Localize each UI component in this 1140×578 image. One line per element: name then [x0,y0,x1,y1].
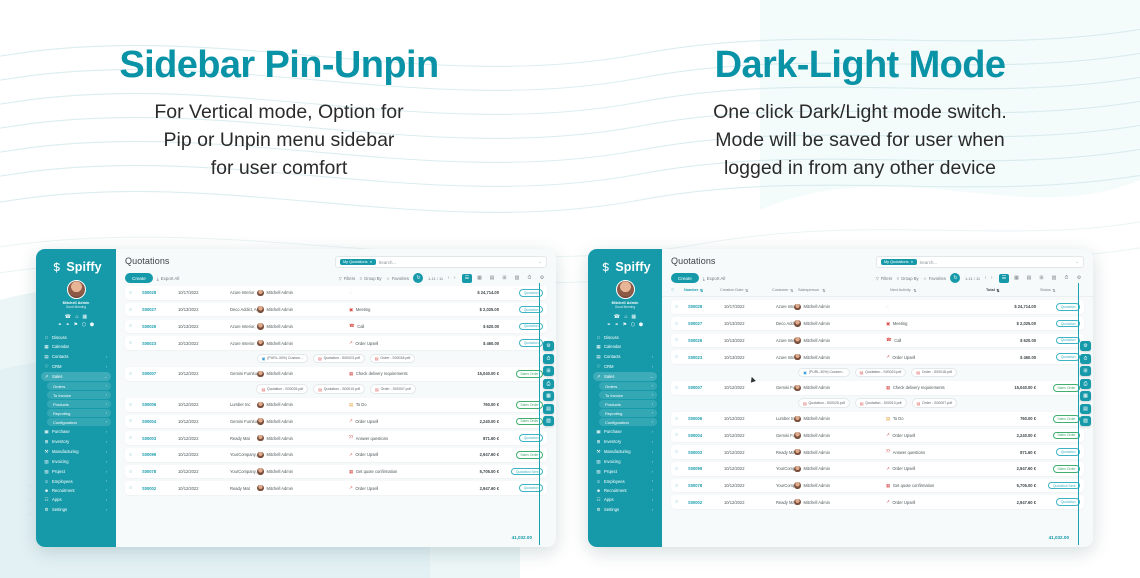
row-checkbox[interactable]: ○ [129,307,142,313]
favorites-button[interactable]: ☆Favorites [923,276,946,281]
table-row[interactable]: ○S0000310/12/2022Ready MatMitchell Admin… [125,431,547,445]
sidebar-item-calendar[interactable]: ▦Calendar [593,342,657,351]
cell-customer: Deco Addict, Addison Olson [230,307,257,312]
home-icon[interactable]: ⌂ [75,315,78,320]
sidebar-item-reporting[interactable]: Reporting› [47,409,111,417]
calendar-view-icon[interactable]: ▤ [1024,274,1034,283]
attachment-chip[interactable]: ▤Quotation - S00010.pdf [855,398,907,408]
apps-icon: ☷ [44,497,49,503]
row-checkbox[interactable]: ○ [129,290,142,296]
table-row[interactable]: ○S0002310/13/2022Azure InteriorMitchell … [671,350,1084,364]
cell-number[interactable]: S00078 [142,469,178,474]
column-header-salesperson[interactable]: Salesperson⇅ [798,287,890,293]
sidebar-item-discuss[interactable]: □Discuss [593,333,657,341]
row-checkbox[interactable]: ○ [129,452,142,458]
pager-prev-icon[interactable]: ‹ [985,275,987,281]
settings-tool-icon[interactable]: ⚙ [1080,341,1091,351]
user-block[interactable]: Mitchell AdminGood Morning [593,280,657,311]
attachment-chip[interactable]: ▤Quotation - S00025.pdf [256,384,308,394]
grid-tool-icon[interactable]: ⊞ [543,366,554,376]
row-checkbox[interactable]: ○ [675,466,688,472]
cell-total: $ 620.00 [982,338,1036,343]
sidebar-item-label: Reporting [605,411,649,416]
crm-icon: ♡ [44,364,49,370]
cell-next-activity[interactable]: ↗Order Upsell [886,354,982,360]
cell-number[interactable]: S00007 [142,371,178,376]
cell-customer: Gemini Furniture [230,371,257,376]
status-badge: Sales Order [1053,415,1080,423]
row-checkbox[interactable]: ○ [675,449,688,455]
sidebar-item-reporting[interactable]: Reporting› [599,409,657,417]
print-tool-icon[interactable]: ⎙ [1080,379,1091,389]
kanban-view-icon[interactable]: ▦ [1012,274,1022,283]
cell-number[interactable]: S00026 [142,324,178,329]
list-view-icon[interactable]: ☰ [999,274,1009,283]
column-header-customer[interactable]: Customer⇅ [772,287,798,293]
table-row[interactable]: ○S0002710/13/2022Deco Addict, Addison Ol… [671,317,1084,331]
table-row[interactable]: ○S0000610/12/2022Lumber IncMitchell Admi… [671,412,1084,426]
cell-creation-date: 10/12/2022 [178,402,230,407]
cell-next-activity[interactable]: ↗Order Upsell [886,432,982,438]
activity-label: Meeting [893,321,908,326]
attachment-label: Order - S00018.pdf [380,356,410,360]
pivot-view-icon[interactable]: ⊞ [1037,274,1047,283]
table-body[interactable]: ○S0002810/17/2022Azure InteriorMitchell … [662,297,1093,512]
row-checkbox[interactable]: ○ [675,385,688,391]
cell-salesperson: Mitchell Admin [794,466,886,473]
cell-customer: Lumber Inc [776,416,794,421]
sort-icon: ⇅ [822,288,825,293]
grid-tool-icon[interactable]: ⊞ [1080,366,1091,376]
table-row[interactable]: ○S0000710/12/2022Gemini FurnitureMitchel… [125,367,547,381]
pager-prev-icon[interactable]: ‹ [448,275,450,281]
table-row[interactable]: ○S0002810/17/2022Azure InteriorMitchell … [125,286,547,300]
row-checkbox[interactable]: ○ [675,321,688,327]
row-checkbox[interactable]: ○ [129,469,142,475]
sidebar-item-calendar[interactable]: ▦Calendar [41,342,111,351]
sidebar-item-recruitment[interactable]: ☻Recruitment› [41,486,111,494]
activity-view-icon[interactable]: ⏱ [1062,274,1072,283]
pdf-icon: ▤ [318,356,322,361]
sidebar-item-orders[interactable]: Orders› [47,382,111,390]
row-checkbox[interactable]: ○ [129,485,142,491]
cell-number[interactable]: S00004 [688,433,724,438]
export-all-button[interactable]: ⤓Export All [157,276,180,281]
filters-button[interactable]: ▽Filters [339,276,355,281]
link-alt-icon[interactable]: ⚭ [615,323,619,328]
cell-next-activity[interactable]: ↗Order Upsell [349,485,445,491]
cell-number[interactable]: S00027 [142,307,178,312]
sidebar-menu[interactable]: □Discuss▦Calendar▤Contacts›♡CRM›↗Sales⌄O… [593,333,657,547]
column-header-total[interactable]: Total⇅ [986,287,1040,293]
app-content-right[interactable]: QuotationsMy Quotations✕Search...⌄Create… [662,249,1093,547]
sidebar-item-recruitment[interactable]: ☻Recruitment› [593,486,657,494]
heading-subtitle-left-line-2: Pip or Unpin menu sidebar [0,126,558,154]
export-all-button[interactable]: ⤓Export All [703,276,726,281]
cell-status: Sales Order [1036,384,1080,392]
search-facet[interactable]: My Quotations✕ [340,259,376,265]
activity-icon: ○ [886,304,889,309]
cell-number[interactable]: S00023 [688,355,724,360]
cell-next-activity[interactable]: ▣Meeting [886,321,982,327]
sidebar-item-sales[interactable]: ↗Sales⌄ [593,372,657,381]
quick-icons-row-1[interactable]: ☎⌂▦ [593,311,657,320]
attachment-chip[interactable]: ▤Order - S00018.pdf [911,368,957,378]
cell-next-activity[interactable]: ↗Order Upsell [886,499,982,505]
sidebar-item-settings[interactable]: ⚙Settings› [41,505,111,514]
print-tool-icon[interactable]: ⎙ [543,379,554,389]
cell-next-activity[interactable]: ▦Check delivery requirements [349,371,445,377]
pin-icon[interactable]: ⬢ [90,323,95,328]
column-header-label: Creation Date [720,288,743,292]
chevron-down-icon[interactable]: ⌄ [1075,259,1079,265]
cell-next-activity[interactable]: ⁇Answer questions [886,449,982,455]
attachment-chip[interactable]: ▤Quotation - S00010.pdf [313,384,365,394]
table-row[interactable]: ○S0009910/12/2022YourCompany, Joel Willi… [125,448,547,462]
attachment-label: Order - S00007.pdf [922,401,952,405]
attachment-chip[interactable]: ▤Quotation - S00023.pdf [855,368,907,378]
graph-view-icon[interactable]: ▨ [1049,274,1059,283]
chart-tool-icon[interactable]: ▨ [1080,416,1091,426]
attachment-chip[interactable]: ▣(PURL-30%) Custom... [798,368,849,378]
cell-next-activity[interactable]: ○ [349,290,445,295]
cell-number[interactable]: S00006 [142,402,178,407]
settings-icon[interactable]: ⚙ [1074,274,1084,283]
sidebar-item-to-invoice[interactable]: To Invoice› [599,391,657,399]
sidebar-item-contacts[interactable]: ▤Contacts› [41,352,111,361]
cell-next-activity[interactable]: ▣Meeting [349,307,445,313]
pager-next-icon[interactable]: › [991,275,993,281]
view-switcher[interactable]: ☰▦▤⊞▨⏱⚙ [999,274,1084,283]
tag-icon[interactable]: ⚑ [74,323,79,328]
cell-next-activity[interactable]: ↗Order Upsell [886,466,982,472]
sidebar-item-invoicing[interactable]: ▥Invoicing› [593,457,657,466]
link-icon[interactable]: ⚭ [58,323,62,328]
filter-icon: ▽ [876,276,879,281]
activity-label: Order Upsell [355,341,378,346]
cell-number[interactable]: S00003 [688,450,724,455]
cell-next-activity[interactable]: ○ [886,304,982,309]
cell-salesperson: Mitchell Admin [794,482,886,489]
calendar-tool-icon[interactable]: ▦ [1080,391,1091,401]
settings-tool-icon[interactable]: ⚙ [543,341,554,351]
calendar-view-icon[interactable]: ▤ [487,274,497,283]
avatar [794,304,801,311]
cell-salesperson: Mitchell Admin [794,354,886,361]
sidebar-item-products[interactable]: Products› [599,400,657,408]
home-icon[interactable]: ⌂ [624,315,627,320]
quick-icons-row-2[interactable]: ⚭⚭⚑⬡⬢ [41,321,111,334]
cell-number[interactable]: S00002 [142,486,178,491]
sidebar-item-label: To Invoice [605,393,649,398]
row-checkbox[interactable]: ○ [675,304,688,310]
user-block[interactable]: Mitchell AdminGood Morning [41,280,111,311]
cell-next-activity[interactable]: ▦Check delivery requirements [886,385,982,391]
sidebar-item-apps[interactable]: ☷Apps› [593,495,657,504]
floating-toolbar-left[interactable]: ⚙⏱⊞⎙▦▤▨ [543,341,554,426]
cell-next-activity[interactable]: ▦Get quote confirmation [349,469,445,475]
attachment-chip[interactable]: ▤Order - S00007.pdf [370,384,416,394]
quick-icons-row-2[interactable]: ⚭⚭⚑⬡⬢ [593,321,657,334]
cell-next-activity[interactable]: ↗Order Upsell [349,418,445,424]
cell-total: $ 24,714.00 [445,290,499,295]
cell-number[interactable]: S00023 [142,341,178,346]
table-row[interactable]: ○S0009910/12/2022YourCompany, Joel Willi… [671,462,1084,476]
sidebar-item-manufacturing[interactable]: ⚒Manufacturing› [593,447,657,456]
cell-number[interactable]: S00099 [142,452,178,457]
cell-salesperson: Mitchell Admin [257,485,349,492]
panel-edge-accent [1078,283,1079,545]
row-checkbox[interactable]: ○ [129,418,142,424]
refresh-icon[interactable]: ↻ [413,273,423,283]
brand-name: Spiffy [615,260,650,274]
sidebar-menu[interactable]: □Discuss▦Calendar▤Contacts›♡CRM›↗Sales⌄O… [41,333,111,547]
settings-icon[interactable]: ⚙ [537,274,547,283]
close-icon[interactable]: ✕ [910,260,913,264]
table-row[interactable]: ○S0000310/12/2022Ready MatMitchell Admin… [671,445,1084,459]
link-icon[interactable]: ⚭ [607,323,611,328]
cell-next-activity[interactable]: ▤To Do [349,402,445,408]
row-checkbox[interactable]: ○ [129,371,142,377]
heading-block-dark-light-mode: Dark-Light Mode One click Dark/Light mod… [570,0,1140,215]
column-header-next-activity[interactable]: Next Activity⇅ [890,287,986,293]
favorites-button[interactable]: ☆Favorites [386,276,409,281]
table-body[interactable]: ○S0002810/17/2022Azure InteriorMitchell … [116,283,556,498]
sidebar-item-label: Project [52,469,103,474]
cell-total: 15,040.00 € [445,371,499,376]
sidebar-item-label: Sales [604,374,647,379]
sidebar-item-employees[interactable]: ☺Employees› [41,477,111,485]
table-header: ○Number⇅Creation Date⇅Customer⇅Salespers… [662,283,1093,297]
cell-status: Sales Order [499,451,543,459]
create-button[interactable]: Create [125,273,153,283]
calculator-icon[interactable]: ▦ [82,315,87,320]
cell-number[interactable]: S00006 [688,416,724,421]
activity-label: Order Upsell [892,500,915,505]
avatar [794,320,801,327]
activity-icon: ▦ [886,483,890,489]
row-checkbox[interactable]: ○ [129,435,142,441]
row-checkbox[interactable]: ○ [129,323,142,329]
attachment-chip[interactable]: ▤Order - S00007.pdf [912,398,958,408]
lock-icon[interactable]: ⬡ [82,323,87,328]
view-switcher[interactable]: ☰▦▤⊞▨⏱⚙ [462,274,547,283]
pin-icon[interactable]: ⬢ [639,323,644,328]
sidebar-item-inventory[interactable]: ⊞Inventory› [593,437,657,446]
column-header-number[interactable]: Number⇅ [684,287,720,293]
sidebar-item-project[interactable]: ▧Project› [41,467,111,476]
cell-next-activity[interactable]: ⁇Answer questions [349,435,445,441]
sidebar-item-to-invoice[interactable]: To Invoice› [47,391,111,399]
sidebar-item-configuration[interactable]: Configuration› [47,418,111,426]
lock-icon[interactable]: ⬡ [631,323,636,328]
column-header-label: Number [684,288,698,292]
cell-next-activity[interactable]: ▤To Do [886,416,982,422]
chart-tool-icon[interactable]: ▨ [543,416,554,426]
table-row[interactable]: ○S0000410/12/2022Gemini FurnitureMitchel… [671,429,1084,443]
grand-total: 41,032.00 [1049,535,1069,540]
filters-button[interactable]: ▽Filters [876,276,892,281]
pager-next-icon[interactable]: › [454,275,456,281]
clock-tool-icon[interactable]: ⏱ [543,354,554,364]
kanban-view-icon[interactable]: ▦ [475,274,485,283]
table-row[interactable]: ○S0002610/13/2022Azure Interior, Nicole … [125,320,547,334]
chevron-down-icon[interactable]: ⌄ [538,259,542,265]
cell-number[interactable]: S00026 [688,338,724,343]
pivot-view-icon[interactable]: ⊞ [500,274,510,283]
column-header-creation-date[interactable]: Creation Date⇅ [720,287,772,293]
pdf-icon: ▤ [860,370,864,375]
sidebar-item-crm[interactable]: ♡CRM› [593,362,657,371]
row-checkbox[interactable]: ○ [675,354,688,360]
sidebar-item-orders[interactable]: Orders› [599,382,657,390]
table-row[interactable]: ○S0000710/12/2022Gemini FurnitureMitchel… [671,381,1084,395]
activity-label: Answer questions [356,436,388,441]
purchase-icon: ▣ [596,429,601,435]
table-row[interactable]: ○S0000210/12/2022Ready MatMitchell Admin… [125,481,547,495]
chevron-right-icon: › [106,420,107,424]
cell-salesperson: Mitchell Admin [794,416,886,423]
calculator-icon[interactable]: ▦ [631,315,636,320]
attachment-chip[interactable]: ▤Order - S00018.pdf [370,354,416,364]
cell-next-activity[interactable]: ☎Call [886,337,982,343]
clock-tool-icon[interactable]: ⏱ [1080,354,1091,364]
search-input[interactable]: My Quotations✕Search...⌄ [335,256,547,268]
chevron-right-icon: › [106,355,107,359]
pager-label[interactable]: 1-11 / 11 [428,276,443,281]
cell-next-activity[interactable]: ↗Order Upsell [349,340,445,346]
attachment-chip[interactable]: ▣(PURL-30%) Custom... [257,354,308,364]
row-checkbox[interactable]: ○ [129,340,142,346]
sidebar-item-contacts[interactable]: ▤Contacts› [593,352,657,361]
table-row[interactable]: ○S0000610/12/2022Lumber IncMitchell Admi… [125,398,547,412]
row-checkbox[interactable]: ○ [675,416,688,422]
sidebar-item-project[interactable]: ▧Project› [593,467,657,476]
avatar [794,499,801,506]
list-icon: ≡ [360,276,362,281]
app-screenshot-left[interactable]: SpiffyMitchell AdminGood Morning☎⌂▦⚭⚭⚑⬡⬢… [36,249,556,547]
attachment-label: Quotation - S00023.pdf [865,370,901,374]
search-facet[interactable]: My Quotations✕ [881,259,917,265]
phone-icon[interactable]: ☎ [65,315,71,320]
link-alt-icon[interactable]: ⚭ [66,323,70,328]
app-screenshot-right[interactable]: SpiffyMitchell AdminGood Morning☎⌂▦⚭⚭⚑⬡⬢… [588,249,1093,547]
avatar[interactable] [616,280,635,299]
app-content-left[interactable]: QuotationsMy Quotations✕Search...⌄Create… [116,249,556,547]
cell-creation-date: 10/12/2022 [178,486,230,491]
cell-customer: Lumber Inc [230,402,257,407]
status-badge: Sales Order [1053,465,1080,473]
table-row[interactable]: ○S0002610/13/2022Azure Interior, Nicole … [671,334,1084,348]
table-row[interactable]: ○S0000210/12/2022Ready MatMitchell Admin… [671,495,1084,509]
attachment-chip[interactable]: ▤Quotation - S00025.pdf [798,398,850,408]
sidebar-item-manufacturing[interactable]: ⚒Manufacturing› [41,447,111,456]
sidebar-item-configuration[interactable]: Configuration› [599,418,657,426]
sidebar-item-sales[interactable]: ↗Sales⌄ [41,372,111,381]
pager-label[interactable]: 1-11 / 11 [965,276,980,281]
avatar [257,402,264,409]
table-row[interactable]: ○S0002810/17/2022Azure InteriorMitchell … [671,300,1084,314]
app-sidebar-right[interactable]: SpiffyMitchell AdminGood Morning☎⌂▦⚭⚭⚑⬡⬢… [588,249,662,547]
calendar-icon: ▦ [596,344,601,350]
create-button[interactable]: Create [671,273,699,283]
group-by-button[interactable]: ≡Group By [897,276,919,281]
sidebar-item-invoicing[interactable]: ▥Invoicing› [41,457,111,466]
cell-customer: Azure Interior, Nicole Ford [230,324,257,329]
sidebar-item-purchase[interactable]: ▣Purchase› [41,427,111,436]
row-checkbox[interactable]: ○ [675,337,688,343]
activity-view-icon[interactable]: ⏱ [525,274,535,283]
select-all-checkbox[interactable]: ○ [671,287,684,293]
cell-next-activity[interactable]: ☎Call [349,323,445,329]
app-sidebar-left[interactable]: SpiffyMitchell AdminGood Morning☎⌂▦⚭⚭⚑⬡⬢… [36,249,116,547]
sidebar-item-apps[interactable]: ☷Apps› [41,495,111,504]
avatar[interactable] [67,280,86,299]
sidebar-item-discuss[interactable]: □Discuss [41,333,111,341]
tag-icon[interactable]: ⚑ [623,323,628,328]
cell-next-activity[interactable]: ↗Order Upsell [349,452,445,458]
calendar-tool-icon[interactable]: ▦ [543,391,554,401]
user-greeting: Good Morning [41,305,111,309]
table-row[interactable]: ○S0007810/12/2022YourCompany, Joel Willi… [671,479,1084,493]
attachment-chip[interactable]: ▤Quotation - S00023.pdf [313,354,365,364]
sidebar-item-products[interactable]: Products› [47,400,111,408]
sidebar-item-purchase[interactable]: ▣Purchase› [593,427,657,436]
sidebar-item-employees[interactable]: ☺Employees› [593,477,657,485]
table-row[interactable]: ○S0007810/12/2022YourCompany, Joel Willi… [125,465,547,479]
cell-number[interactable]: S00002 [688,500,724,505]
cell-number[interactable]: S00028 [142,290,178,295]
cell-number[interactable]: S00028 [688,304,724,309]
sidebar-item-inventory[interactable]: ⊞Inventory› [41,437,111,446]
table-row[interactable]: ○S0000410/12/2022Gemini FurnitureMitchel… [125,415,547,429]
phone-icon[interactable]: ☎ [614,315,620,320]
cell-number[interactable]: S00078 [688,483,724,488]
table-row[interactable]: ○S0002310/13/2022Azure InteriorMitchell … [125,336,547,350]
cell-number[interactable]: S00007 [688,385,724,390]
doc-tool-icon[interactable]: ▤ [543,404,554,414]
search-input[interactable]: My Quotations✕Search...⌄ [876,256,1084,268]
sidebar-item-settings[interactable]: ⚙Settings› [593,505,657,514]
doc-tool-icon[interactable]: ▤ [1080,404,1091,414]
activity-icon: ↗ [349,485,353,491]
cell-next-activity[interactable]: ▦Get quote confirmation [886,483,982,489]
cell-customer: Azure Interior [230,341,257,346]
cell-number[interactable]: S00004 [142,419,178,424]
cell-number[interactable]: S00003 [142,436,178,441]
row-checkbox[interactable]: ○ [675,483,688,489]
close-icon[interactable]: ✕ [369,260,372,264]
search-placeholder: Search... [379,260,536,265]
table-row[interactable]: ○S0002710/13/2022Deco Addict, Addison Ol… [125,303,547,317]
row-checkbox[interactable]: ○ [129,402,142,408]
cell-number[interactable]: S00099 [688,466,724,471]
quick-icons-row-1[interactable]: ☎⌂▦ [41,311,111,320]
sidebar-item-crm[interactable]: ♡CRM› [41,362,111,371]
status-badge: Quotation [1056,303,1080,311]
cell-creation-date: 10/13/2022 [178,307,230,312]
group-by-button[interactable]: ≡Group By [360,276,382,281]
refresh-icon[interactable]: ↻ [950,273,960,283]
floating-toolbar-right[interactable]: ⚙⏱⊞⎙▦▤▨ [1080,341,1091,426]
cell-number[interactable]: S00027 [688,321,724,326]
list-view-icon[interactable]: ☰ [462,274,472,283]
row-checkbox[interactable]: ○ [675,499,688,505]
row-checkbox[interactable]: ○ [675,432,688,438]
attachment-label: Quotation - S00023.pdf [324,356,360,360]
graph-view-icon[interactable]: ▨ [512,274,522,283]
recruitment-icon: ☻ [44,488,49,493]
